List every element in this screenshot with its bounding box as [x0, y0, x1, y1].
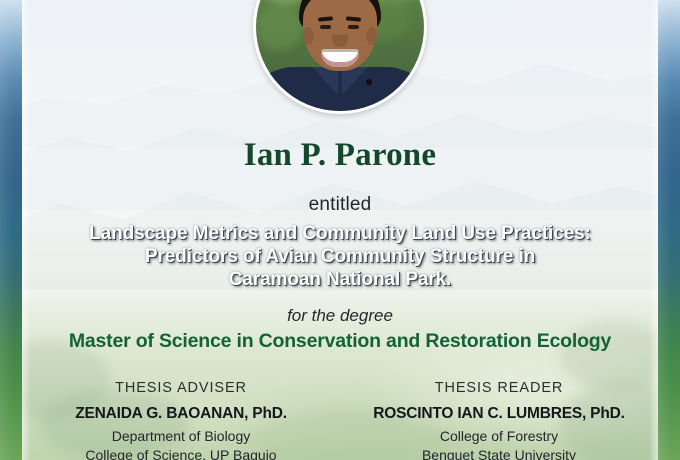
reader-role-label: THESIS READER — [346, 380, 652, 396]
thesis-title-line-2: Predictors of Avian Community Structure … — [32, 245, 648, 268]
portrait-lapel-mic-icon — [366, 79, 372, 85]
adviser-name: ZENAIDA G. BAOANAN, PhD. — [28, 405, 334, 423]
thesis-title-line-3: Caramoan National Park. — [32, 268, 648, 291]
portrait-eye-left — [320, 25, 331, 29]
thesis-reader-panel: THESIS READER ROSCINTO IAN C. LUMBRES, P… — [340, 380, 658, 460]
thesis-title: Landscape Metrics and Community Land Use… — [32, 222, 648, 292]
right-border-strip — [658, 0, 680, 460]
degree-name: Master of Science in Conservation and Re… — [32, 330, 648, 353]
portrait-ear-left — [303, 27, 314, 45]
left-border-strip — [0, 0, 22, 460]
thesis-adviser-panel: THESIS ADVISER ZENAIDA G. BAOANAN, PhD. … — [22, 380, 340, 460]
thesis-defense-poster: Ian P. Parone entitled Landscape Metrics… — [0, 0, 680, 460]
reader-name: ROSCINTO IAN C. LUMBRES, PhD. — [346, 405, 652, 423]
portrait-frame — [253, 0, 427, 114]
portrait-eye-right — [348, 25, 359, 29]
reader-affiliation-line-1: College of Forestry — [346, 427, 652, 446]
committee-panels: THESIS ADVISER ZENAIDA G. BAOANAN, PhD. … — [22, 380, 658, 460]
adviser-affiliation-line-2: College of Science, UP Baguio — [28, 446, 334, 460]
bokeh-leaf — [256, 5, 302, 51]
thesis-title-line-1: Landscape Metrics and Community Land Use… — [32, 222, 648, 245]
portrait-shirt — [256, 67, 424, 111]
candidate-name: Ian P. Parone — [32, 138, 648, 173]
for-the-degree-label: for the degree — [32, 306, 648, 326]
adviser-role-label: THESIS ADVISER — [28, 380, 334, 396]
left-border-sheen — [0, 0, 22, 460]
portrait-photo — [256, 0, 424, 111]
portrait-ear-right — [366, 27, 377, 45]
right-border-sheen — [658, 0, 680, 460]
adviser-affiliation-line-1: Department of Biology — [28, 427, 334, 446]
entitled-label: entitled — [32, 194, 648, 216]
reader-affiliation-line-2: Benguet State University — [346, 446, 652, 460]
